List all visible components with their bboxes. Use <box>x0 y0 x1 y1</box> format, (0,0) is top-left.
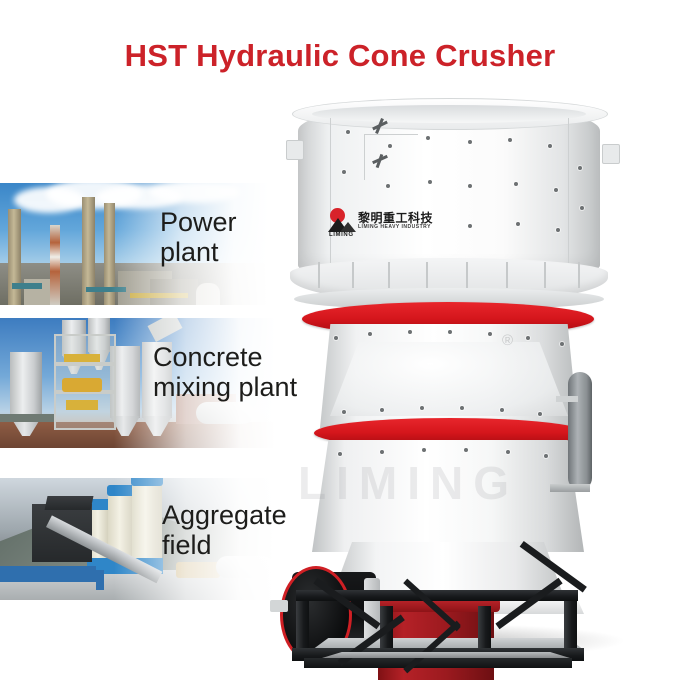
bolt <box>560 342 564 346</box>
accumulator-bracket <box>550 484 590 492</box>
frame-leg <box>296 596 309 654</box>
panel-seam <box>330 118 331 264</box>
access-hatch-edge <box>364 134 418 135</box>
lifting-lug <box>286 140 304 160</box>
bolt <box>422 448 426 452</box>
flange-rib <box>352 262 354 288</box>
bolt <box>580 206 584 210</box>
bolt <box>468 184 472 188</box>
bolt <box>514 182 518 186</box>
bolt <box>548 144 552 148</box>
bolt <box>342 170 346 174</box>
bolt <box>544 454 548 458</box>
bolt <box>516 222 520 226</box>
bolt <box>388 144 392 148</box>
bolt <box>428 180 432 184</box>
flange-rib <box>506 262 508 288</box>
accumulator-bracket <box>556 396 578 402</box>
bolt <box>334 336 338 340</box>
white-fade-overlay <box>0 183 292 305</box>
logo-mountain-icon <box>340 222 356 232</box>
panel-seam <box>568 118 569 266</box>
flange-rib <box>578 262 580 288</box>
application-panel-concrete-mixing-plant: Concrete mixing plant <box>0 318 300 448</box>
bolt <box>554 188 558 192</box>
bolt <box>468 224 472 228</box>
bolt <box>342 410 346 414</box>
page-title: HST Hydraulic Cone Crusher <box>0 38 680 74</box>
flange-rib <box>426 262 428 288</box>
access-hatch-edge <box>364 134 365 180</box>
bolt <box>368 332 372 336</box>
bolt <box>464 448 468 452</box>
frame-floor-plate <box>322 652 570 658</box>
logo-wordmark: LIMING <box>329 232 354 238</box>
lifting-lug <box>602 144 620 164</box>
bolt <box>488 332 492 336</box>
registered-trademark-mark: ® <box>502 332 513 349</box>
flange-rib <box>388 262 390 288</box>
brand-logo: LIMING 黎明重工科技 LIMING HEAVY INDUSTRY <box>330 208 438 238</box>
bolt <box>556 228 560 232</box>
bolt <box>508 138 512 142</box>
bolt <box>380 450 384 454</box>
bolt <box>448 330 452 334</box>
application-panel-aggregate-field: Aggregate field <box>0 478 300 600</box>
bolt <box>460 406 464 410</box>
bolt <box>408 330 412 334</box>
hydraulic-accumulator <box>568 372 592 490</box>
shaft-stub <box>270 600 288 612</box>
flange-rib <box>466 262 468 288</box>
frame-leg <box>564 596 577 654</box>
product-image-canvas: HST Hydraulic Cone Crusher Power plant <box>0 0 680 680</box>
bolt <box>468 140 472 144</box>
bolt <box>500 408 504 412</box>
bolt <box>506 450 510 454</box>
bolt <box>578 166 582 170</box>
bolt <box>338 452 342 456</box>
panel-caption-power-plant: Power plant <box>160 207 237 267</box>
bolt <box>420 406 424 410</box>
flange-rib <box>318 262 320 288</box>
product-photo-cone-crusher: LIMING 黎明重工科技 LIMING HEAVY INDUSTRY ® <box>268 96 660 662</box>
bolt <box>526 336 530 340</box>
bolt <box>538 412 542 416</box>
bolt <box>426 136 430 140</box>
flange-rib <box>544 262 546 288</box>
hopper-rim-inner <box>312 105 586 123</box>
cone-waist-highlight <box>330 342 568 416</box>
application-panel-power-plant: Power plant <box>0 183 292 305</box>
bolt <box>346 130 350 134</box>
logo-english-name: LIMING HEAVY INDUSTRY <box>358 224 431 230</box>
bolt <box>386 184 390 188</box>
bolt <box>380 408 384 412</box>
